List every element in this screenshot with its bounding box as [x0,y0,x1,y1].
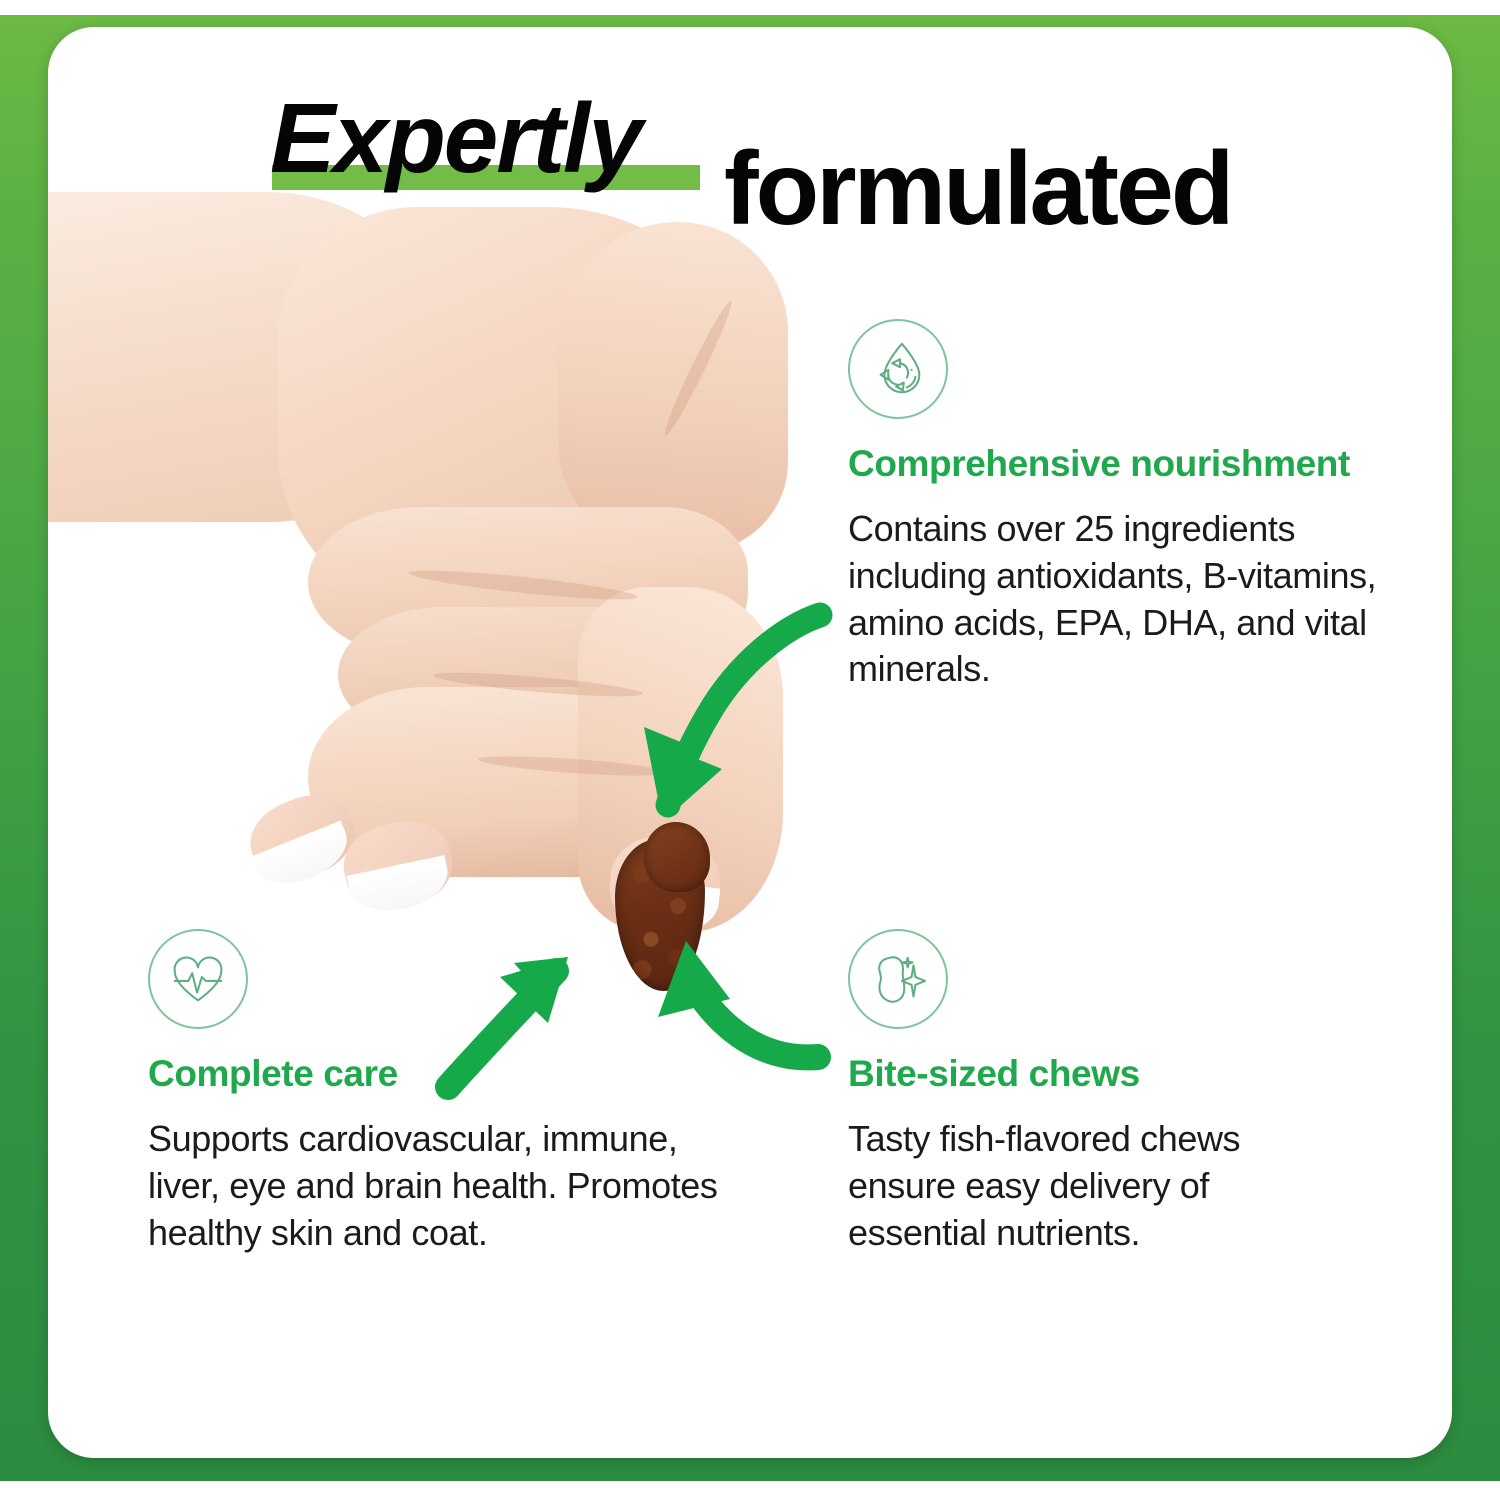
water-droplet-recycle-icon [848,319,948,419]
feature-body: Supports cardiovascular, immune, liver, … [148,1116,728,1256]
white-content-card: Expertly formulated [48,27,1452,1458]
feature-title: Bite-sized chews [848,1053,1328,1096]
infographic-stage: Expertly formulated [0,0,1500,1500]
feature-body: Tasty fish-flavored chews ensure easy de… [848,1116,1328,1256]
feature-bite-sized-chews: Bite-sized chews Tasty fish-flavored che… [848,929,1328,1256]
chew-sparkle-icon [848,929,948,1029]
knuckles-shape [558,222,788,552]
feature-title: Comprehensive nourishment [848,443,1408,486]
feature-complete-care: Complete care Supports cardiovascular, i… [148,929,728,1256]
soft-chew-treat-lobe [644,822,710,892]
feature-comprehensive-nourishment: Comprehensive nourishment Contains over … [848,319,1408,693]
chew-sparkle-glyph [867,948,929,1010]
heart-pulse-glyph [167,948,229,1010]
feature-body: Contains over 25 ingredients including a… [848,506,1408,693]
droplet-recycle-glyph [867,338,929,400]
heart-heartbeat-icon [148,929,248,1029]
feature-title: Complete care [148,1053,728,1096]
